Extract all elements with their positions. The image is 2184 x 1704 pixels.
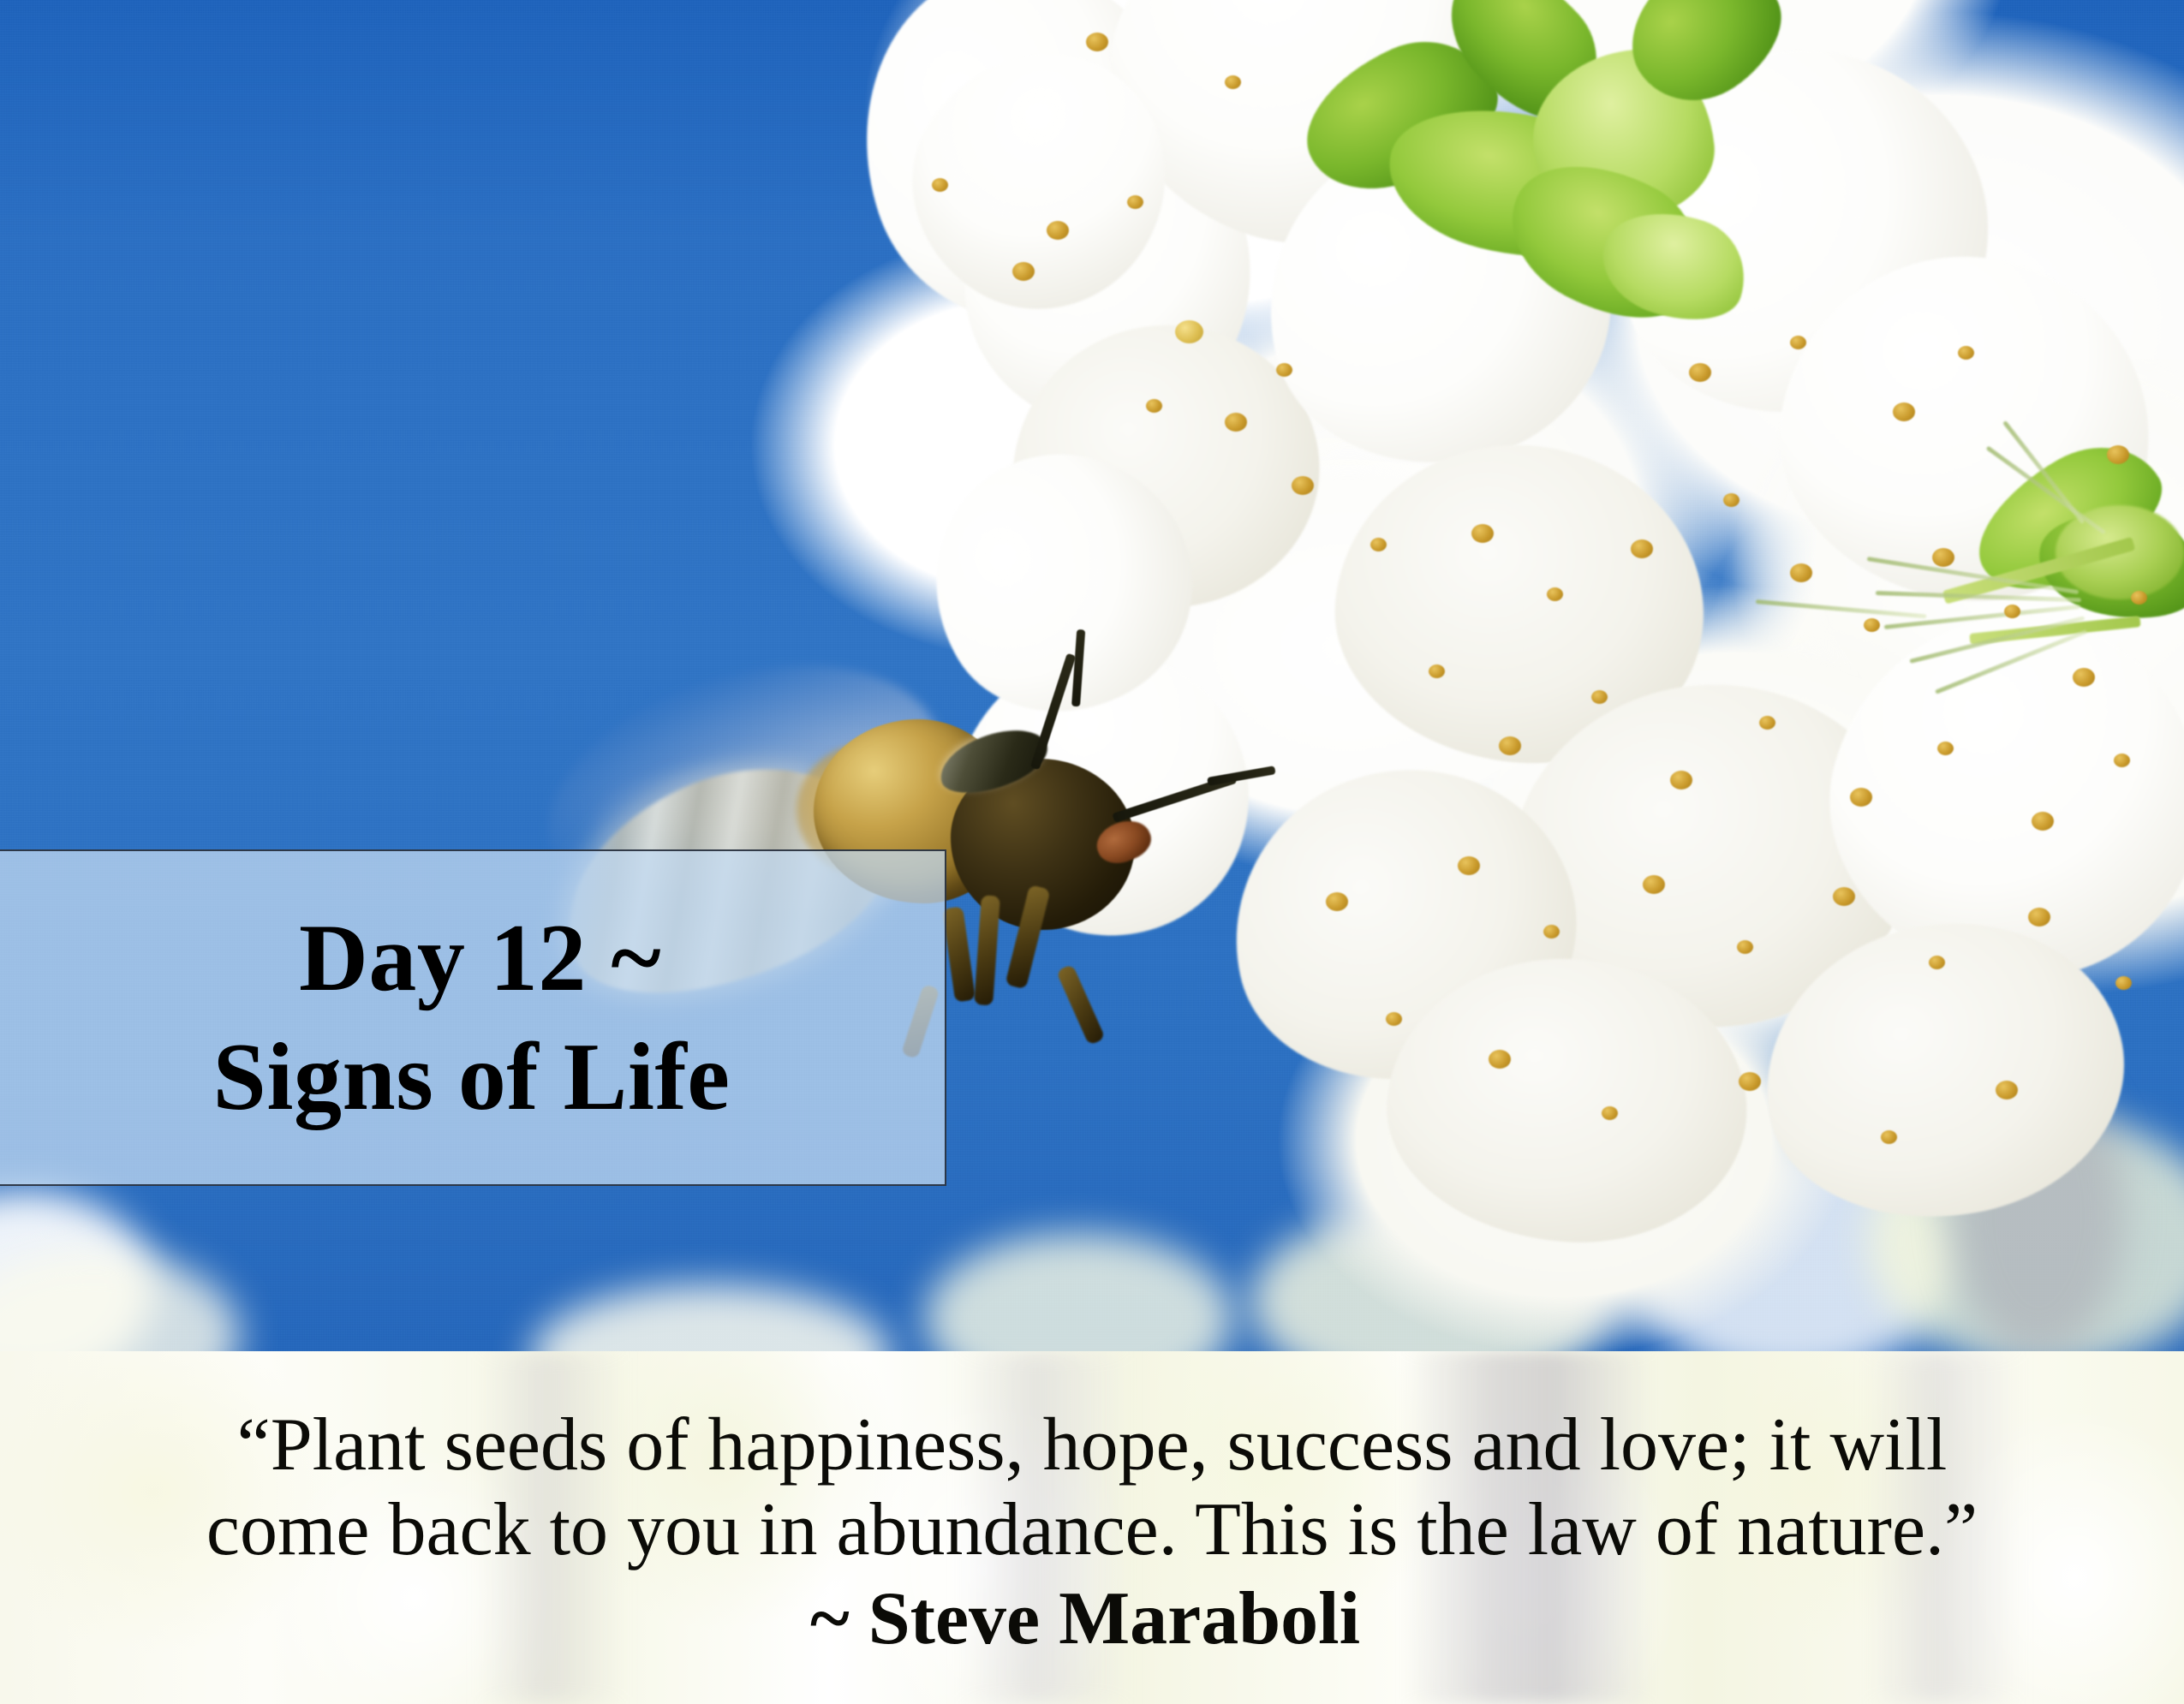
pollen-anther <box>1543 925 1560 938</box>
pollen-anther <box>1086 33 1108 51</box>
pollen-anther <box>1591 690 1608 704</box>
pollen-anther <box>1833 887 1855 906</box>
pollen-anther <box>1850 788 1872 807</box>
pollen-anther <box>1790 563 1812 582</box>
pollen-anther <box>2107 445 2129 464</box>
bee-leg <box>974 895 1000 1005</box>
pollen-anther <box>1326 892 1348 911</box>
pollen-anther <box>1790 336 1806 349</box>
bee-leg <box>942 906 976 1002</box>
pollen-anther <box>1499 736 1521 755</box>
pollen-anther <box>1225 75 1241 89</box>
pollen-anther <box>1386 1012 1402 1026</box>
pollen-anther <box>1602 1106 1618 1120</box>
pollen-anther <box>1689 363 1711 382</box>
pollen-anther <box>1929 956 1945 969</box>
pollen-anther <box>1958 346 1974 360</box>
quote-caption-panel: “Plant seeds of happiness, hope, success… <box>0 1351 2184 1704</box>
pollen-anther <box>1759 716 1775 730</box>
bee-leg <box>1056 964 1106 1046</box>
pollen-anther <box>1458 856 1480 875</box>
bee-antenna <box>1207 766 1276 786</box>
pollen-anther <box>1723 493 1739 507</box>
pollen-anther <box>2004 605 2020 618</box>
pollen-anther <box>1047 221 1069 240</box>
pollen-anther <box>1146 399 1162 413</box>
title-line-2: Signs of Life <box>213 1018 731 1137</box>
pollen-anther <box>1547 587 1563 601</box>
quote-line-1: “Plant seeds of happiness, hope, success… <box>237 1403 1948 1487</box>
pollen-anther <box>932 178 948 192</box>
title-line-1: Day 12 ~ <box>299 899 661 1018</box>
quote-attribution: ~ Steve Maraboli <box>810 1576 1360 1661</box>
pollen-anther <box>1670 771 1692 789</box>
pollen-anther <box>1893 402 1915 421</box>
pollen-anther <box>1225 413 1247 432</box>
pollen-anther <box>1932 548 1954 567</box>
pollen-anther <box>2115 976 2132 990</box>
pollen-anther <box>1937 742 1954 755</box>
pollen-anther <box>1175 320 1203 343</box>
pollen-anther <box>1489 1050 1511 1069</box>
pollen-anther <box>1276 363 1292 377</box>
pollen-anther <box>2131 591 2147 605</box>
pollen-anther <box>1127 195 1143 209</box>
pollen-anther <box>1631 539 1653 558</box>
pollen-anther <box>1739 1072 1761 1091</box>
pollen-anther <box>1643 875 1665 894</box>
pollen-anther <box>1996 1081 2018 1099</box>
pollen-anther <box>1864 618 1880 632</box>
pollen-anther <box>1370 538 1387 551</box>
quote-text-group: “Plant seeds of happiness, hope, success… <box>0 1351 2184 1704</box>
pollen-anther <box>1471 524 1494 543</box>
title-text-box[interactable]: Day 12 ~ Signs of Life <box>0 849 946 1186</box>
pollen-anther <box>1737 940 1753 954</box>
pollen-anther <box>1429 664 1445 678</box>
pollen-anther <box>2032 812 2054 831</box>
pollen-anther <box>2114 754 2130 767</box>
slide-canvas: Day 12 ~ Signs of Life “Plant seeds of h… <box>0 0 2184 1704</box>
pollen-anther <box>1292 476 1314 495</box>
quote-line-2: come back to you in abundance. This is t… <box>206 1487 1978 1572</box>
pollen-anther <box>1012 262 1035 281</box>
pollen-anther <box>2073 668 2095 687</box>
pollen-anther <box>2028 908 2050 926</box>
pollen-anther <box>1881 1130 1897 1144</box>
